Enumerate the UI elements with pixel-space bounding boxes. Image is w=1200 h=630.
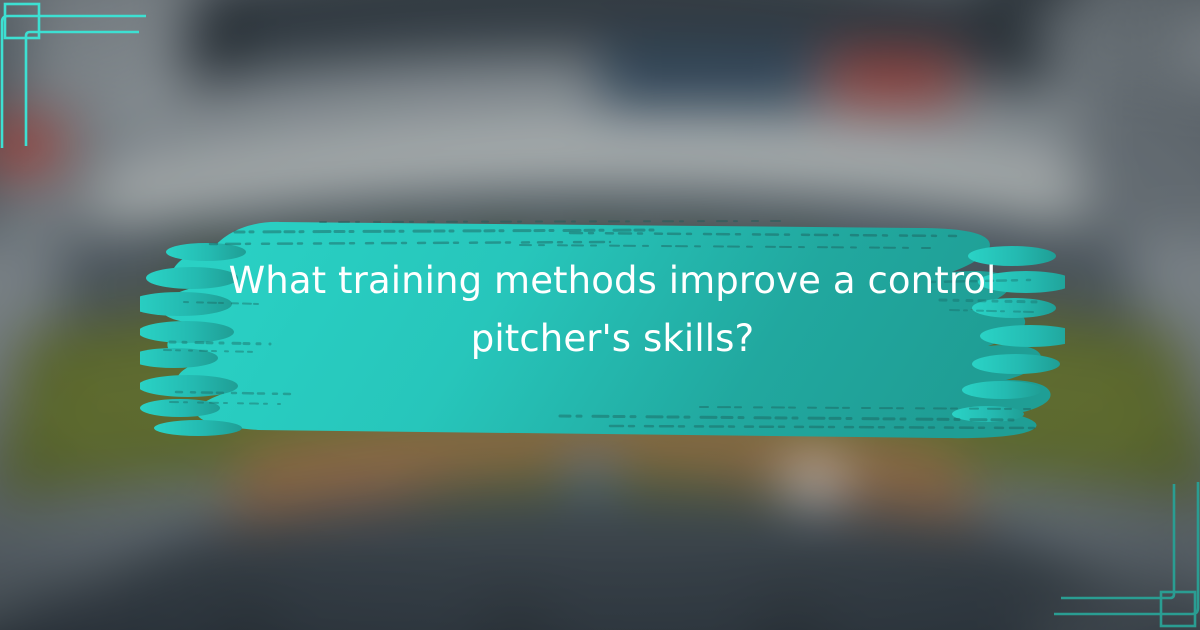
- headline-line-1: What training methods improve a control: [229, 254, 997, 308]
- share-card: What training methods improve a control …: [0, 0, 1200, 630]
- headline-banner: What training methods improve a control …: [140, 192, 1065, 444]
- headline-text: What training methods improve a control …: [240, 192, 985, 444]
- headline-line-2: pitcher's skills?: [471, 312, 754, 366]
